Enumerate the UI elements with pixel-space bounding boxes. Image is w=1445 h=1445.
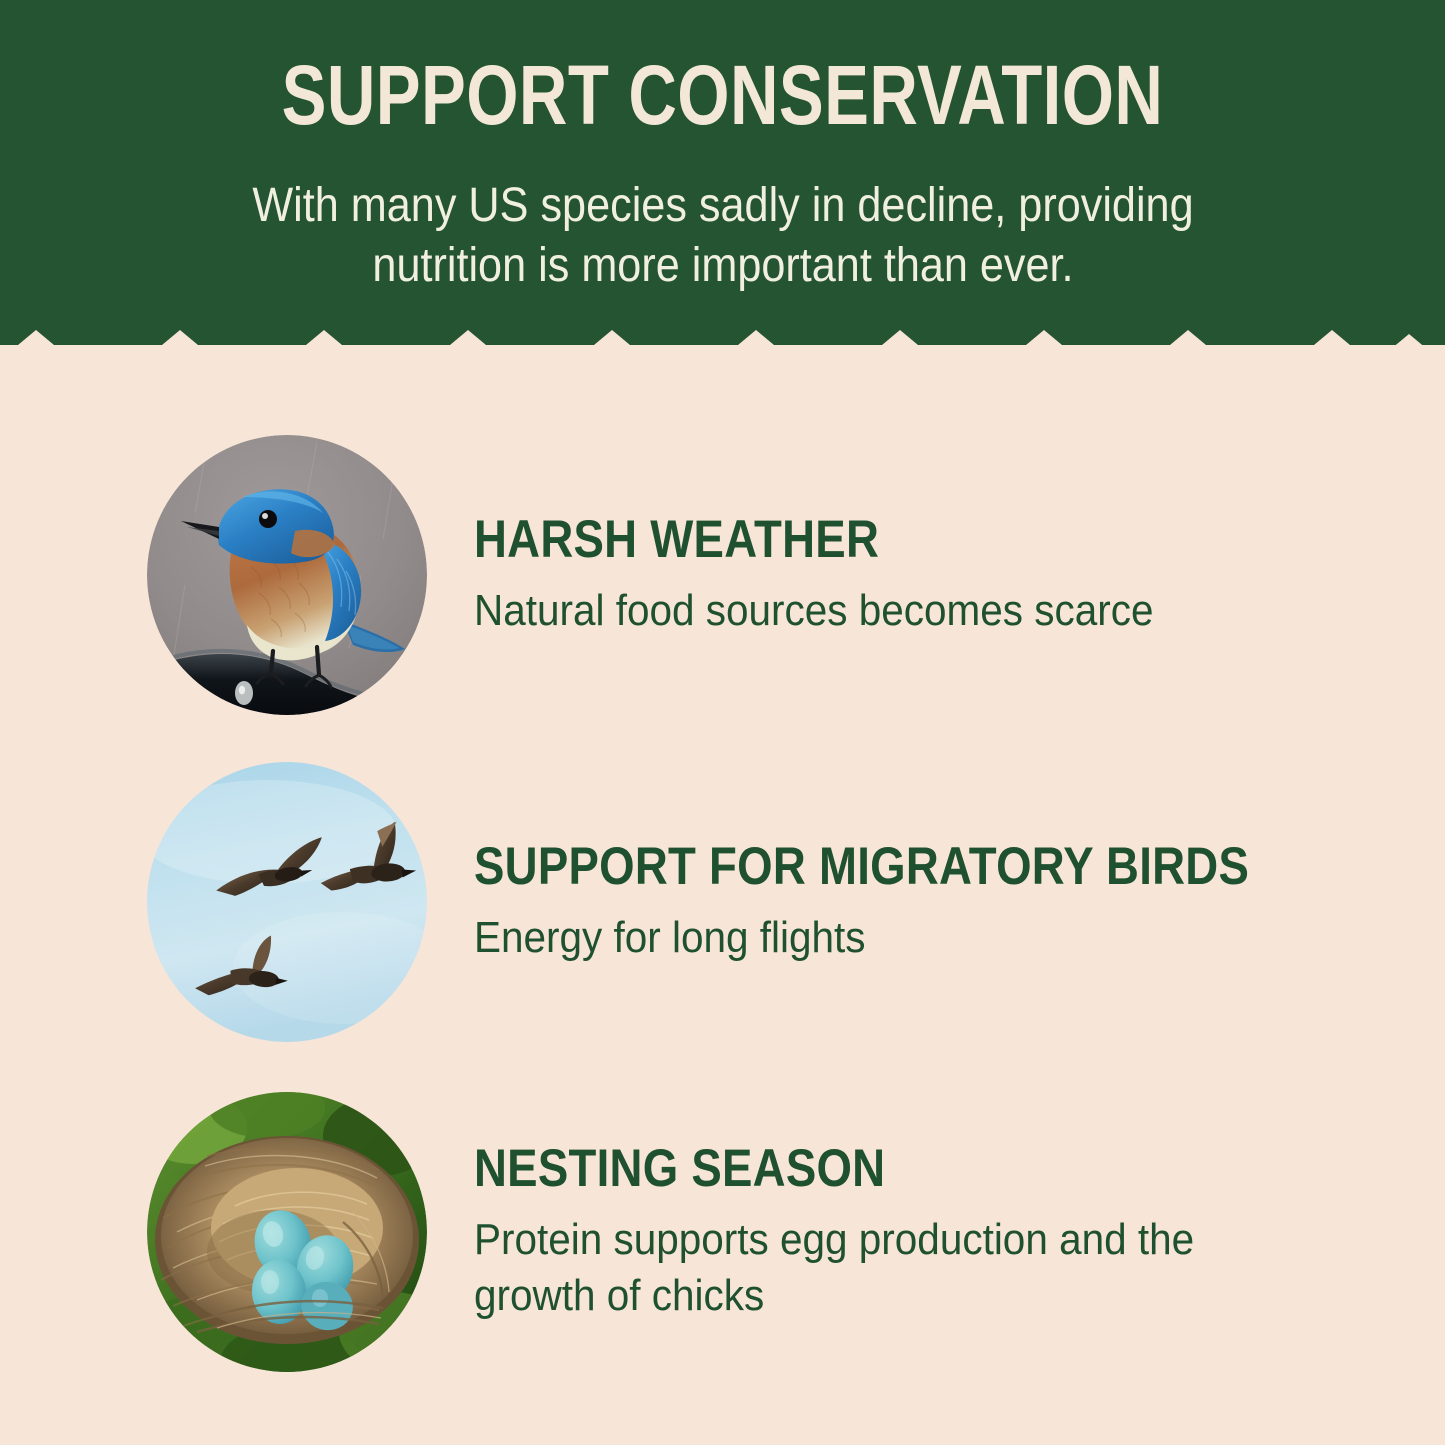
feature-title: SUPPORT FOR MIGRATORY BIRDS bbox=[474, 838, 1188, 896]
conservation-infographic: SUPPORT CONSERVATION With many US specie… bbox=[0, 0, 1445, 1445]
page-title: SUPPORT CONSERVATION bbox=[145, 52, 1301, 138]
migrating-birds-in-flight-photo bbox=[147, 762, 427, 1042]
list-item: NESTING SEASON Protein supports egg prod… bbox=[0, 1092, 1445, 1372]
feature-text-block: HARSH WEATHER Natural food sources becom… bbox=[474, 511, 1213, 639]
feature-text-block: NESTING SEASON Protein supports egg prod… bbox=[474, 1140, 1304, 1324]
feature-description: Protein supports egg production and the … bbox=[474, 1212, 1238, 1324]
header-subtitle: With many US species sadly in decline, p… bbox=[228, 176, 1218, 296]
bluebird-on-branch-photo bbox=[147, 435, 427, 715]
feature-description: Energy for long flights bbox=[474, 910, 1238, 966]
feature-title: HARSH WEATHER bbox=[474, 511, 1109, 569]
zigzag-divider bbox=[0, 330, 1445, 392]
header-banner: SUPPORT CONSERVATION With many US specie… bbox=[0, 0, 1445, 345]
feature-title: NESTING SEASON bbox=[474, 1140, 1188, 1198]
feature-description: Natural food sources becomes scarce bbox=[474, 583, 1153, 639]
feature-text-block: SUPPORT FOR MIGRATORY BIRDS Energy for l… bbox=[474, 838, 1304, 966]
list-item: HARSH WEATHER Natural food sources becom… bbox=[0, 435, 1445, 715]
nest-with-blue-eggs-photo bbox=[147, 1092, 427, 1372]
list-item: SUPPORT FOR MIGRATORY BIRDS Energy for l… bbox=[0, 762, 1445, 1042]
